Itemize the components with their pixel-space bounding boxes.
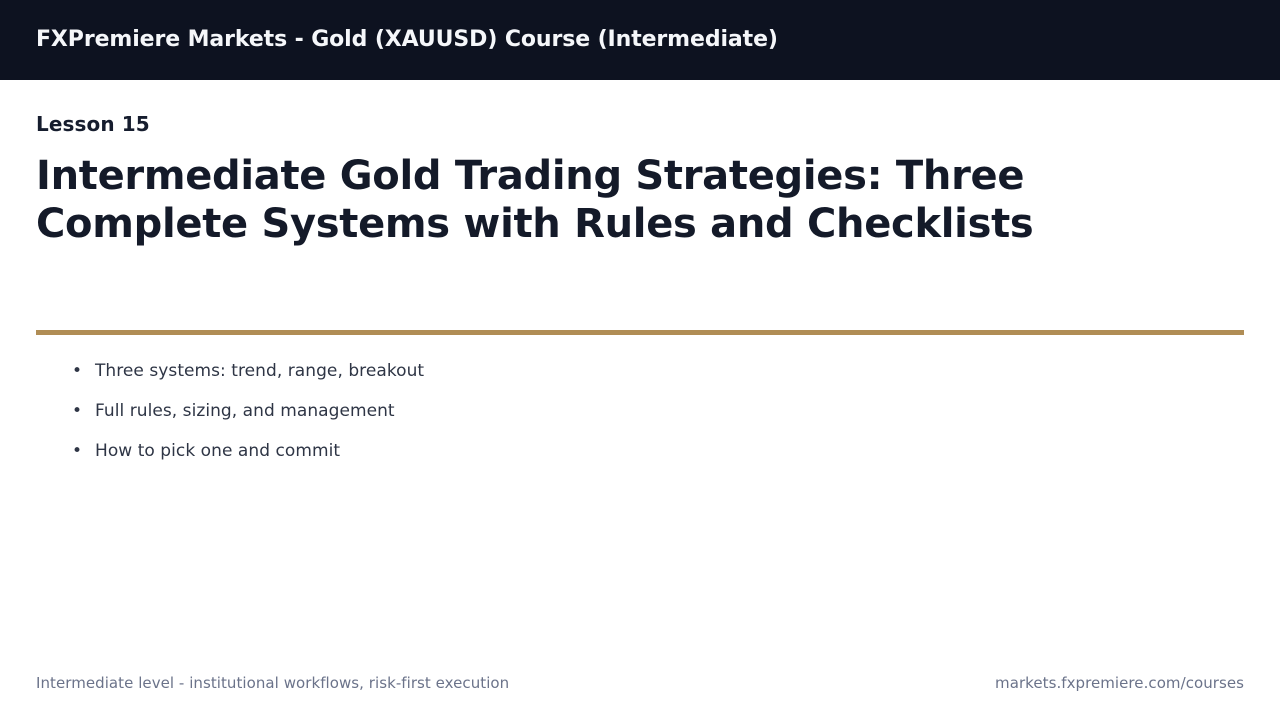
list-item: • Three systems: trend, range, breakout [36, 358, 1136, 398]
slide-header-bar: FXPremiere Markets - Gold (XAUUSD) Cours… [0, 0, 1280, 80]
slide-title: Intermediate Gold Trading Strategies: Th… [36, 152, 1216, 248]
gold-divider [36, 330, 1244, 335]
bullet-dot-icon: • [72, 398, 92, 424]
footer-level-note: Intermediate level - institutional workf… [36, 674, 509, 692]
list-item-label: Three systems: trend, range, breakout [95, 361, 424, 381]
bullet-dot-icon: • [72, 358, 92, 384]
slide-content: Lesson 15 Intermediate Gold Trading Stra… [36, 80, 1244, 248]
list-item-label: Full rules, sizing, and management [95, 401, 395, 421]
bullet-list: • Three systems: trend, range, breakout … [36, 358, 1136, 478]
list-item-label: How to pick one and commit [95, 441, 340, 461]
course-slide: FXPremiere Markets - Gold (XAUUSD) Cours… [0, 0, 1280, 720]
slide-footer: Intermediate level - institutional workf… [36, 674, 1244, 692]
course-title: FXPremiere Markets - Gold (XAUUSD) Cours… [36, 29, 778, 51]
footer-site-url: markets.fxpremiere.com/courses [995, 674, 1244, 692]
list-item: • Full rules, sizing, and management [36, 398, 1136, 438]
bullet-dot-icon: • [72, 438, 92, 464]
list-item: • How to pick one and commit [36, 438, 1136, 478]
lesson-number-label: Lesson 15 [36, 113, 1244, 135]
